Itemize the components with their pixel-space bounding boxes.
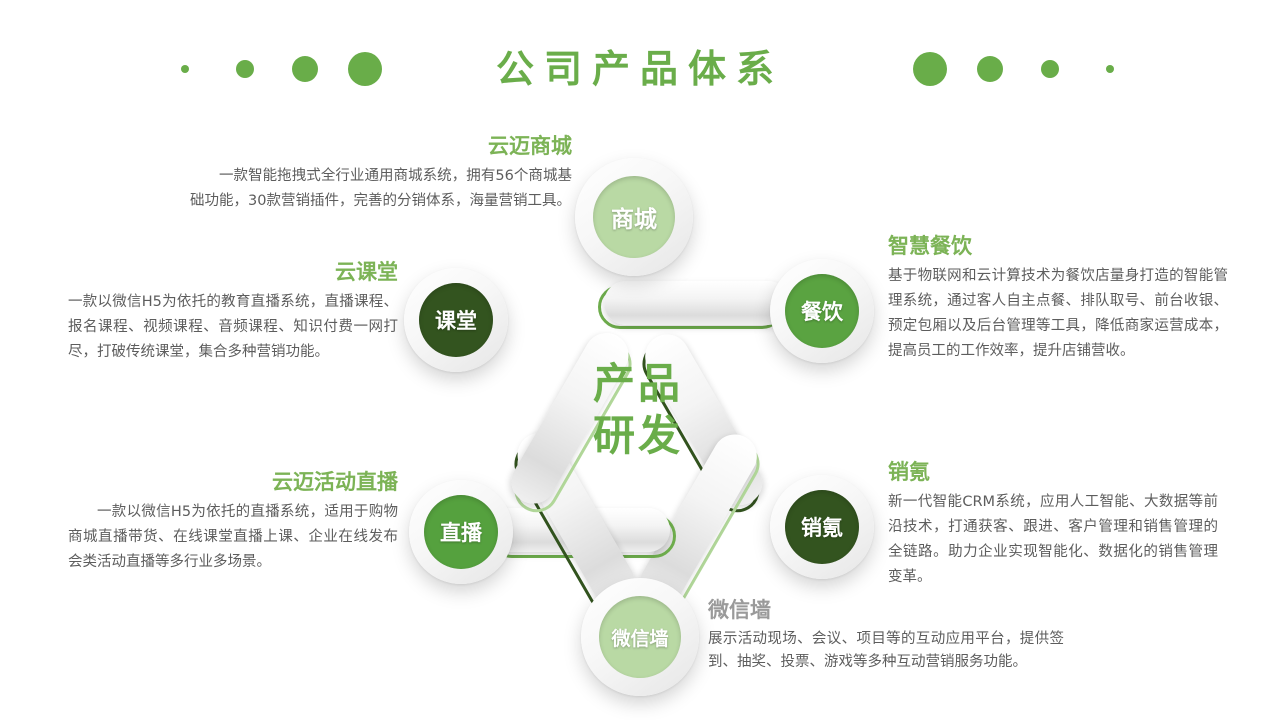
block-xiaoke-heading: 销氪 [888,458,1218,486]
node-xiaoke[interactable]: 销氪 [770,475,874,579]
center-label-line2: 研发 [553,410,723,462]
node-canyin-label: 餐饮 [801,296,843,326]
dot-icon [913,52,947,86]
block-weixinqiang-body: 展示活动现场、会议、项目等的互动应用平台，提供签到、抽奖、投票、游戏等多种互动营… [708,628,1064,674]
node-xiaoke-label: 销氪 [801,512,843,542]
node-zhibo-inner: 直播 [424,495,498,569]
block-xiaoke-body: 新一代智能CRM系统，应用人工智能、大数据等前沿技术，打通获客、跟进、客户管理和… [888,490,1218,590]
block-ketang: 云课堂 一款以微信H5为依托的教育直播系统，直播课程、报名课程、视频课程、音频课… [68,258,398,365]
slide-canvas: 公司产品体系 产品 [0,0,1280,720]
node-ketang-inner: 课堂 [419,283,493,357]
node-zhibo-label: 直播 [440,517,482,547]
block-canyin-heading: 智慧餐饮 [888,232,1228,260]
node-canyin[interactable]: 餐饮 [770,259,874,363]
dot-icon [292,56,318,82]
block-weixinqiang-heading: 微信墙 [708,596,1064,624]
node-shangcheng-inner: 商城 [593,176,675,258]
block-xiaoke: 销氪 新一代智能CRM系统，应用人工智能、大数据等前沿技术，打通获客、跟进、客户… [888,458,1218,590]
dot-icon [1106,65,1114,73]
decorative-dots-left [155,48,395,90]
dot-icon [181,65,189,73]
decorative-dots-right [900,48,1140,90]
block-zhibo-body: 一款以微信H5为依托的直播系统，适用于购物商城直播带货、在线课堂直播上课、企业在… [68,500,398,575]
center-label-line1: 产品 [553,358,723,410]
node-weixinqiang[interactable]: 微信墙 [581,578,699,696]
block-shangcheng-body: 一款智能拖拽式全行业通用商城系统，拥有56个商城基础功能，30款营销插件，完善的… [190,164,572,214]
block-ketang-body: 一款以微信H5为依托的教育直播系统，直播课程、报名课程、视频课程、音频课程、知识… [68,290,398,365]
center-label: 产品 研发 [553,358,723,462]
node-xiaoke-inner: 销氪 [785,490,859,564]
connector-top-right [598,285,784,329]
block-canyin: 智慧餐饮 基于物联网和云计算技术为餐饮店量身打造的智能管理系统，通过客人自主点餐… [888,232,1228,364]
node-shangcheng[interactable]: 商城 [575,158,693,276]
dot-icon [348,52,382,86]
node-ketang[interactable]: 课堂 [404,268,508,372]
block-ketang-heading: 云课堂 [68,258,398,286]
dot-icon [977,56,1003,82]
node-canyin-inner: 餐饮 [785,274,859,348]
dot-icon [1041,60,1059,78]
node-weixinqiang-label: 微信墙 [611,624,668,651]
block-weixinqiang: 微信墙 展示活动现场、会议、项目等的互动应用平台，提供签到、抽奖、投票、游戏等多… [708,596,1064,674]
node-zhibo[interactable]: 直播 [409,480,513,584]
block-zhibo: 云迈活动直播 一款以微信H5为依托的直播系统，适用于购物商城直播带货、在线课堂直… [68,468,398,575]
dot-icon [236,60,254,78]
node-shangcheng-label: 商城 [611,200,657,234]
block-shangcheng-heading: 云迈商城 [190,132,572,160]
block-canyin-body: 基于物联网和云计算技术为餐饮店量身打造的智能管理系统，通过客人自主点餐、排队取号… [888,264,1228,364]
node-ketang-label: 课堂 [435,305,477,335]
block-zhibo-heading: 云迈活动直播 [68,468,398,496]
block-shangcheng: 云迈商城 一款智能拖拽式全行业通用商城系统，拥有56个商城基础功能，30款营销插… [190,132,572,214]
node-weixinqiang-inner: 微信墙 [599,596,681,678]
